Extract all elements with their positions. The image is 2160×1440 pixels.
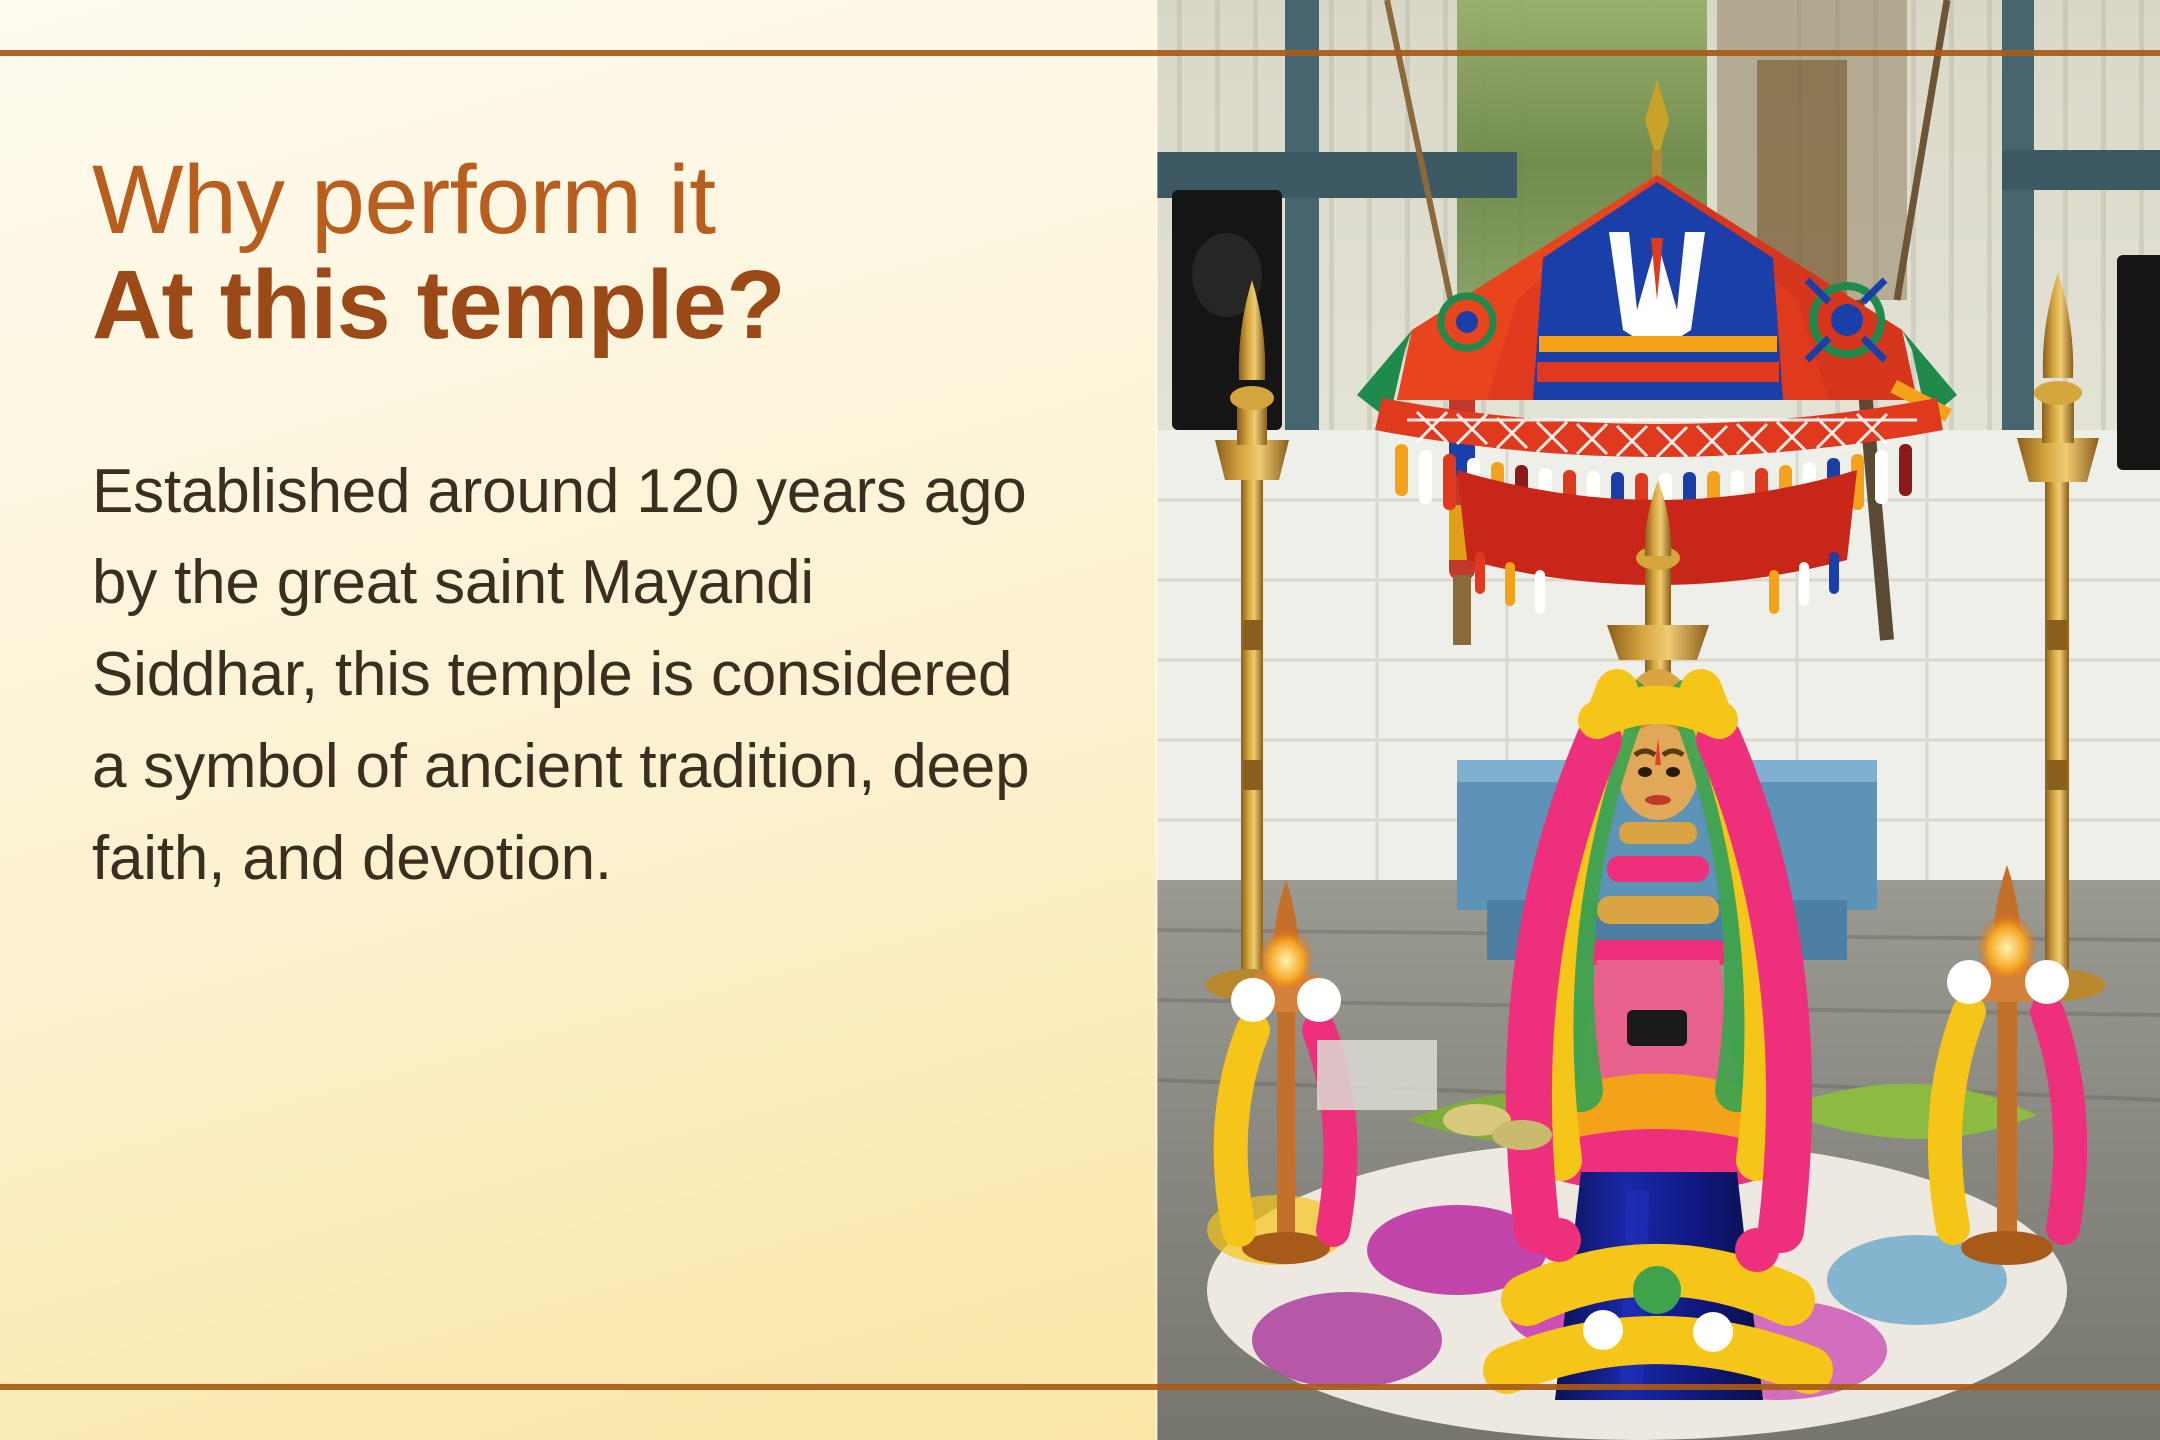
temple-photo [1157,0,2160,1440]
offering-tray [1317,1040,1437,1110]
bottom-divider-rule [0,1384,2160,1390]
top-divider-rule [0,50,2160,56]
left-text-panel: Why perform it At this temple? Establish… [0,0,1157,1440]
page-title: Why perform it At this temple? [92,150,1102,360]
beam-right [2002,150,2160,190]
panel-photo-edge [1155,0,1158,1440]
body-paragraph: Established around 120 years ago by the … [92,446,1047,905]
heading-line-2: At this temple? [92,251,1102,360]
deity-pendant [1627,1010,1687,1046]
deity-necklace [1619,822,1697,844]
offering-banana [1492,1120,1552,1150]
temple-scene-illustration [1157,0,2160,1440]
speaker-right [2117,255,2160,470]
text-block: Why perform it At this temple? Establish… [92,150,1102,904]
heading-line-1: Why perform it [92,150,1102,251]
slide-canvas: Why perform it At this temple? Establish… [0,0,2160,1440]
